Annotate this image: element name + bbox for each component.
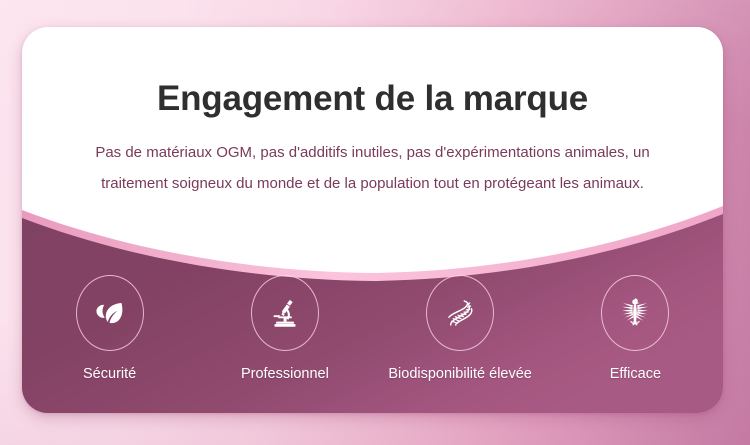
eagle-icon-circle (601, 275, 669, 351)
leaf-icon-circle (76, 275, 144, 351)
eagle-icon (617, 295, 653, 331)
microscope-icon-circle (251, 275, 319, 351)
page-background: Engagement de la marque Pas de matériaux… (0, 0, 750, 445)
dna-icon (443, 296, 477, 330)
microscope-icon (268, 296, 302, 330)
feature-item-securite[interactable]: Sécurité (22, 275, 197, 413)
brand-commitment-description: Pas de matériaux OGM, pas d'additifs inu… (94, 137, 651, 199)
brand-commitment-card: Engagement de la marque Pas de matériaux… (22, 27, 723, 413)
page-title: Engagement de la marque (22, 80, 723, 119)
feature-item-professionnel[interactable]: Professionnel (197, 275, 372, 413)
feature-icons-row: Sécurité (22, 275, 723, 413)
leaf-icon (93, 296, 127, 330)
feature-item-efficace[interactable]: Efficace (548, 275, 723, 413)
feature-item-biodisponibilite[interactable]: Biodisponibilité élevée (373, 275, 548, 413)
feature-label: Sécurité (83, 366, 136, 382)
feature-label: Professionnel (241, 366, 329, 382)
dna-icon-circle (426, 275, 494, 351)
feature-label: Efficace (610, 366, 661, 382)
feature-label: Biodisponibilité élevée (388, 366, 532, 382)
